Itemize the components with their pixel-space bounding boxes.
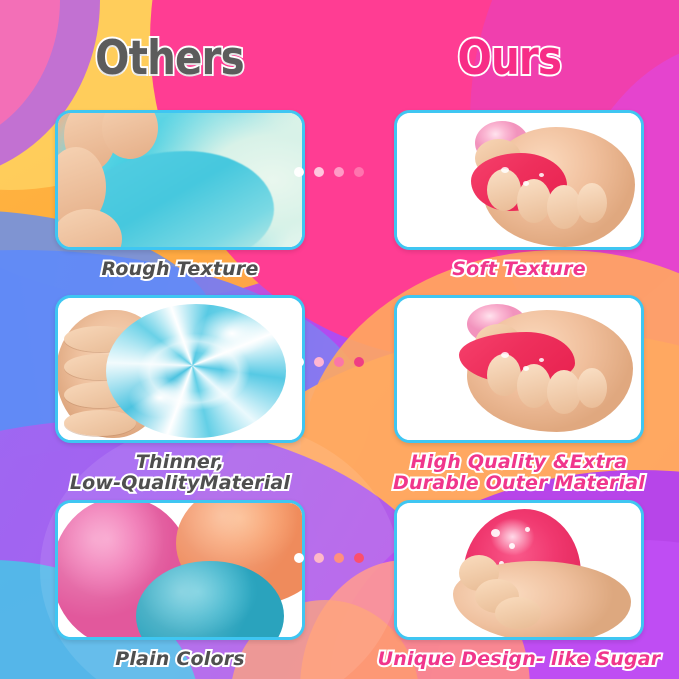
separator-dot — [334, 357, 344, 367]
separator-dot — [294, 357, 304, 367]
ours-cell-material: High Quality &Extra Durable Outer Materi… — [369, 295, 669, 495]
others-cell-material: Thinner, Low-QualityMaterial — [30, 295, 330, 495]
marbled-ball-shape — [106, 304, 286, 438]
glitter-sparkle — [523, 366, 529, 371]
comparison-infographic: Others Ours Rough Texture — [0, 0, 679, 679]
marble-swirl — [124, 324, 264, 420]
hand-squeezing-sugar-ball-photo — [394, 500, 644, 640]
knuckle-shape — [577, 368, 607, 408]
separator-dot — [314, 553, 324, 563]
separator-dot — [334, 553, 344, 563]
hand-squeezing-red-ball-photo — [394, 295, 644, 443]
red-ball-photo-body — [397, 298, 641, 440]
comparison-row-material: Thinner, Low-QualityMaterial — [0, 295, 679, 495]
knuckle-shape — [577, 183, 607, 223]
glitter-sparkle — [539, 358, 544, 362]
header-ours: Ours — [340, 22, 679, 94]
glitter-sparkle — [523, 181, 529, 186]
ours-cell-design: Unique Design- like Sugar — [369, 500, 669, 670]
header-others-label: Others — [95, 35, 244, 82]
content-layer: Others Ours Rough Texture — [0, 0, 679, 679]
knuckle-shape — [547, 185, 581, 229]
glitter-sparkle — [525, 527, 530, 532]
glitter-sparkle — [491, 529, 500, 537]
separator-dot — [314, 167, 324, 177]
glitter-sparkle — [501, 352, 509, 358]
marbled-blue-ball-photo — [55, 295, 305, 443]
sugar-ball-photo-body — [397, 503, 641, 637]
ours-cell-texture: Soft Texture — [369, 110, 669, 280]
knuckle-shape — [547, 370, 581, 414]
knuckle-shape — [517, 364, 551, 408]
others-cell-texture: Rough Texture — [30, 110, 330, 280]
glitter-sparkle — [501, 167, 509, 173]
row-separator-dots-material — [294, 357, 364, 367]
plain-balls-photo-body — [58, 503, 302, 637]
comparison-row-texture: Rough Texture — [0, 110, 679, 280]
header-ours-label: Ours — [457, 35, 561, 82]
caption-plain-colors: Plain Colors — [115, 649, 245, 670]
plain-colored-balls-photo — [55, 500, 305, 640]
header-others: Others — [0, 22, 340, 94]
finger-shape — [64, 410, 136, 436]
knuckle-shape — [487, 354, 521, 396]
knuckle-shape — [517, 179, 551, 223]
hand-squeezing-pink-ball-photo — [394, 110, 644, 250]
separator-dot — [314, 357, 324, 367]
slime-photo-body — [58, 113, 302, 247]
marble-photo-body — [58, 298, 302, 440]
column-headers: Others Ours — [0, 22, 679, 94]
others-cell-design: Plain Colors — [30, 500, 330, 670]
caption-high-quality-material: High Quality &Extra Durable Outer Materi… — [369, 452, 669, 495]
separator-dot — [334, 167, 344, 177]
row-separator-dots-texture — [294, 167, 364, 177]
knuckle-shape — [487, 169, 521, 211]
caption-unique-design: Unique Design- like Sugar — [378, 649, 661, 670]
pink-ball-photo-body — [397, 113, 641, 247]
glitter-sparkle — [539, 173, 544, 177]
separator-dot — [354, 167, 364, 177]
row-separator-dots-design — [294, 553, 364, 563]
separator-dot — [294, 553, 304, 563]
caption-thinner-low-quality: Thinner, Low-QualityMaterial — [30, 452, 330, 495]
finger-shape — [495, 597, 541, 629]
separator-dot — [354, 553, 364, 563]
caption-soft-texture: Soft Texture — [452, 259, 586, 280]
separator-dot — [354, 357, 364, 367]
glitter-sparkle — [509, 543, 515, 549]
caption-rough-texture: Rough Texture — [101, 259, 258, 280]
separator-dot — [294, 167, 304, 177]
comparison-row-design: Plain Colors — [0, 500, 679, 670]
stretched-blue-slime-photo — [55, 110, 305, 250]
